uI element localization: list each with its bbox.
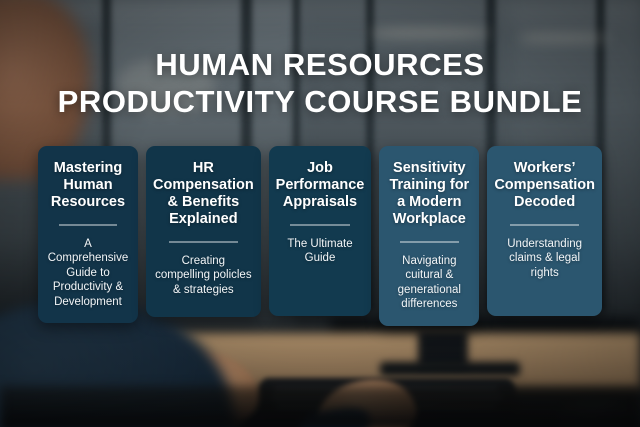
course-card-divider	[59, 224, 117, 226]
course-card-title: Mastering Human Resources	[45, 160, 131, 211]
course-card[interactable]: Job Performance AppraisalsThe Ultimate G…	[269, 146, 372, 316]
course-card-divider	[400, 241, 458, 243]
title-line-2: PRODUCTIVITY COURSE BUNDLE	[0, 83, 640, 120]
course-card-title: Sensitivity Training for a Modern Workpl…	[386, 160, 472, 228]
banner-content: HUMAN RESOURCES PRODUCTIVITY COURSE BUND…	[0, 0, 640, 427]
course-card-divider	[290, 224, 350, 226]
course-card-divider	[510, 224, 578, 226]
course-card-title: Workers’ Compensation Decoded	[494, 160, 595, 211]
course-card[interactable]: Sensitivity Training for a Modern Workpl…	[379, 146, 479, 326]
course-card-title: Job Performance Appraisals	[276, 160, 365, 211]
course-card[interactable]: Mastering Human ResourcesA Comprehensive…	[38, 146, 138, 323]
course-card-divider	[169, 241, 237, 243]
course-card-subtitle: A Comprehensive Guide to Productivity & …	[45, 237, 131, 310]
course-card[interactable]: HR Compensation & Benefits ExplainedCrea…	[146, 146, 261, 317]
course-card[interactable]: Workers’ Compensation DecodedUnderstandi…	[487, 146, 602, 316]
course-card-title: HR Compensation & Benefits Explained	[153, 160, 254, 228]
course-card-subtitle: Navigating cuitural & generational diffe…	[386, 254, 472, 312]
page-title: HUMAN RESOURCES PRODUCTIVITY COURSE BUND…	[0, 46, 640, 120]
course-card-list: Mastering Human ResourcesA Comprehensive…	[38, 146, 602, 326]
course-card-subtitle: Understanding claims & legal rights	[494, 237, 595, 281]
course-card-subtitle: Creating compelling policles & strategie…	[153, 254, 254, 298]
title-line-1: HUMAN RESOURCES	[0, 46, 640, 83]
promo-banner: HUMAN RESOURCES PRODUCTIVITY COURSE BUND…	[0, 0, 640, 427]
course-card-subtitle: The Ultimate Guide	[276, 237, 365, 266]
